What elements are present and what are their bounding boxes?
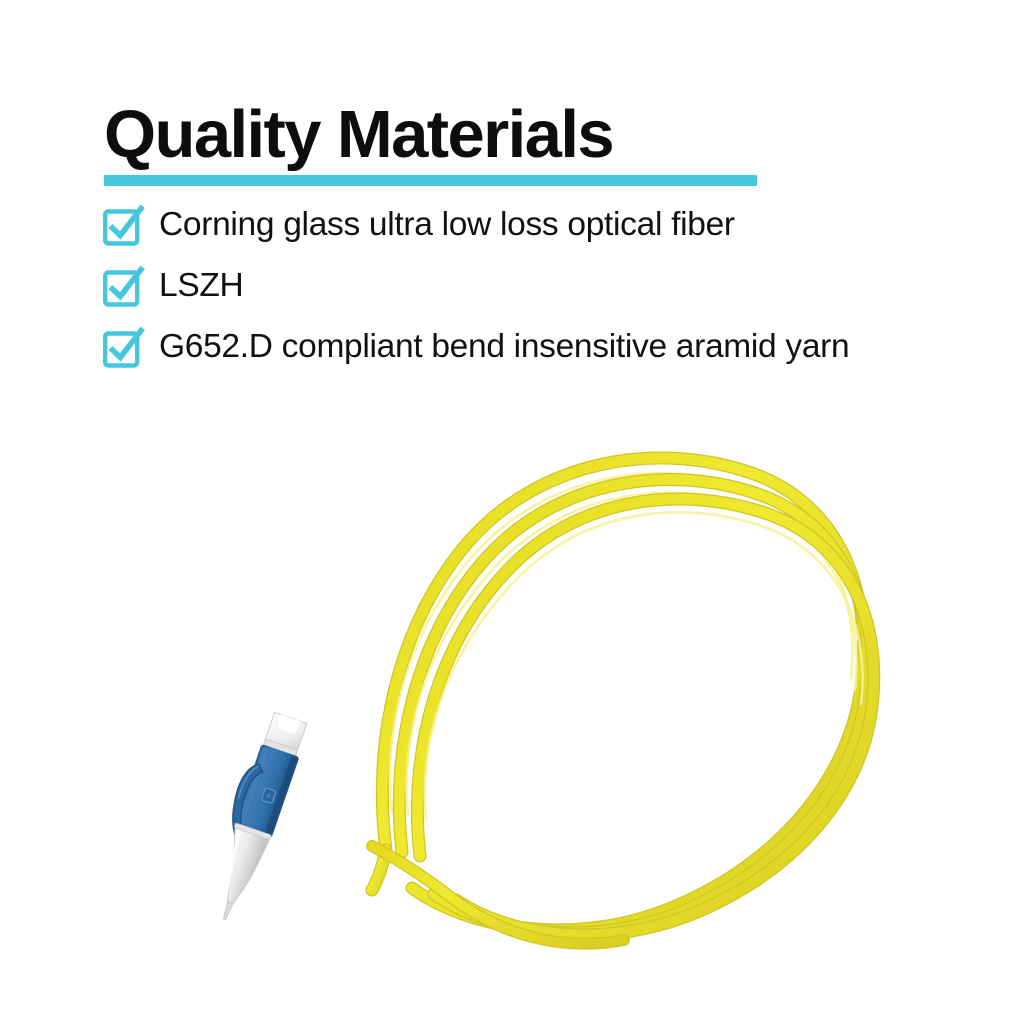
list-item: Corning glass ultra low loss optical fib… — [104, 203, 864, 247]
heading-block: Quality Materials — [104, 101, 784, 186]
product-feature-card: Quality Materials Corning glass ultra lo… — [0, 0, 1024, 1024]
title-underline-rule — [104, 175, 757, 186]
connector-latch — [222, 760, 267, 841]
connector-ferrule — [263, 712, 307, 756]
feature-label: G652.D compliant bend insensitive aramid… — [159, 325, 849, 369]
connector-boot — [205, 823, 272, 925]
cable-coil — [372, 458, 874, 944]
connector-body — [234, 744, 300, 838]
lc-connector — [196, 709, 310, 925]
checkbox-checked-icon — [104, 330, 138, 364]
checkbox-checked-icon — [104, 269, 138, 303]
feature-list: Corning glass ultra low loss optical fib… — [104, 203, 864, 386]
feature-label: LSZH — [159, 264, 243, 308]
checkbox-checked-icon — [104, 208, 138, 242]
list-item: G652.D compliant bend insensitive aramid… — [104, 325, 864, 369]
feature-label: Corning glass ultra low loss optical fib… — [159, 203, 735, 247]
list-item: LSZH — [104, 264, 864, 308]
page-title: Quality Materials — [104, 101, 784, 168]
